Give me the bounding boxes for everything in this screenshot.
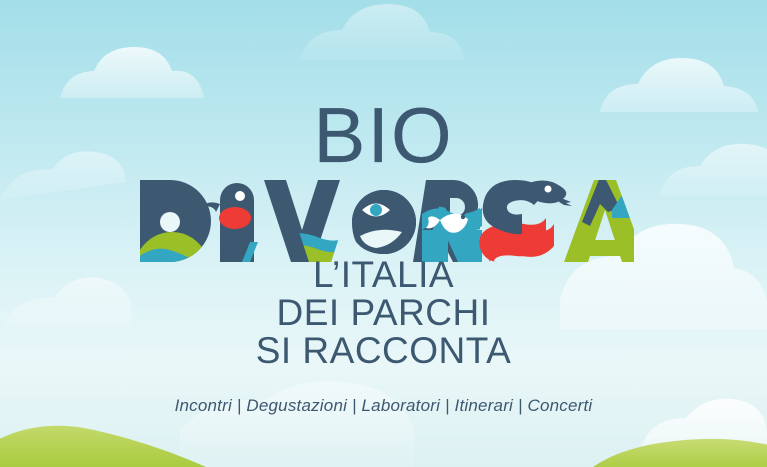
wordmark-diversa: [134, 176, 634, 266]
wordmark-letter-a-mountain: [564, 176, 634, 262]
subtitle-line-3: SI RACCONTA: [0, 332, 767, 370]
subtitle-block: L’ITALIA DEI PARCHI SI RACCONTA: [0, 256, 767, 370]
wordmark-letter-d: [134, 180, 212, 264]
subtitle-line-1: L’ITALIA: [0, 256, 767, 294]
wordmark-letter-e-eye: [352, 190, 416, 254]
wordmark-letter-s-snake: [479, 180, 572, 262]
wordmark-diversa-art: [134, 176, 634, 266]
poster-canvas: BIO: [0, 0, 767, 467]
page-title-bio: BIO: [0, 96, 767, 174]
subtitle-line-2: DEI PARCHI: [0, 294, 767, 332]
tagline: Incontri | Degustazioni | Laboratori | I…: [0, 396, 767, 416]
wordmark-letter-i-bird: [204, 183, 258, 262]
